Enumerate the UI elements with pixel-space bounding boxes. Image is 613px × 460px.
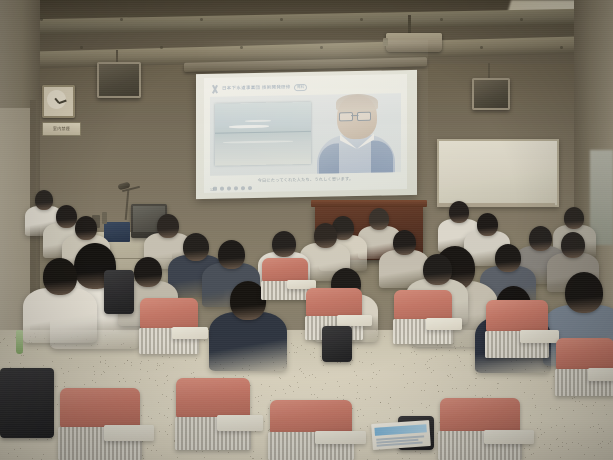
audience-person-head <box>561 232 585 258</box>
audience-person-head <box>449 201 469 223</box>
chair-backrest <box>140 298 198 329</box>
audience-person-head <box>393 230 416 255</box>
audience-person-head <box>218 240 245 269</box>
audience-person-head <box>564 207 584 229</box>
clock-face <box>47 90 66 109</box>
audience-chair <box>60 388 140 460</box>
audience-person-head <box>75 216 97 240</box>
lectern-top <box>311 200 427 207</box>
projector-mount-arm <box>408 15 411 35</box>
chair-writing-tablet <box>588 368 613 381</box>
audience-person-head <box>157 214 179 238</box>
audience-person-head <box>423 254 452 285</box>
audience-chair <box>556 338 613 396</box>
chair-writing-tablet <box>484 430 534 444</box>
play-icon <box>220 186 224 190</box>
speaker-mount-right <box>488 63 490 79</box>
audience-chair <box>394 290 452 344</box>
slide-header-tag: 資料 <box>294 83 308 90</box>
wall-speaker-left <box>97 62 141 98</box>
ceiling-projector <box>386 33 442 52</box>
wall-sign-label: 室内禁煙 <box>53 126 70 132</box>
chair-writing-tablet <box>426 318 462 330</box>
chair-writing-tablet <box>315 431 366 444</box>
whiteboard <box>437 139 559 207</box>
chair-writing-tablet <box>172 327 208 339</box>
wall-clock <box>42 85 75 118</box>
chair-writing-tablet <box>337 315 372 326</box>
chair-backrest <box>394 290 452 320</box>
av-device <box>102 212 107 224</box>
audience-chair <box>140 298 198 354</box>
audience-person-head <box>43 258 77 295</box>
audience-person-head <box>495 244 521 272</box>
slide-inset-photo <box>215 102 311 166</box>
audience-person-head <box>35 190 53 210</box>
subject-hair <box>336 94 378 112</box>
chair-writing-tablet <box>104 425 154 441</box>
personal-bag <box>104 270 134 314</box>
chair-backrest <box>262 258 308 282</box>
audience-person-head <box>272 231 296 257</box>
chair-writing-tablet <box>520 330 558 343</box>
audience-person-head <box>56 205 77 228</box>
forward-icon <box>241 186 245 190</box>
chair-backrest <box>176 378 250 418</box>
slide-header: 日本下水道事業団 技術開発研修 資料 <box>210 79 401 95</box>
company-logo-icon <box>210 84 219 93</box>
chair-backrest <box>486 300 548 332</box>
av-control-box <box>104 222 130 242</box>
audience-person-head <box>565 272 603 313</box>
rewind-icon <box>234 186 238 190</box>
chair-backrest <box>306 288 362 317</box>
personal-bag <box>0 368 54 438</box>
eyeglasses-icon <box>339 112 371 120</box>
audience-chair <box>486 300 548 358</box>
lecture-room-photo: 室内禁煙 日本下水道事業団 技術開発研修 資料 <box>0 0 613 460</box>
audience-chair <box>270 400 352 460</box>
photo-highlight <box>245 120 271 122</box>
photo-horizon-line <box>215 130 311 133</box>
no-smoking-sign: 室内禁煙 <box>42 122 81 136</box>
personal-bag <box>322 326 352 362</box>
projected-slide: 日本下水道事業団 技術開発研修 資料 今日にたってくれた人たち、うれしく思い <box>204 74 407 193</box>
chair-backrest <box>270 400 352 434</box>
slide-header-title: 日本下水道事業団 技術開発研修 <box>222 84 291 91</box>
audience-person-torso <box>23 288 96 344</box>
clock-minute-hand <box>58 100 66 104</box>
ceiling-beam <box>0 8 613 35</box>
audience-person-head <box>529 226 552 251</box>
chair-backrest <box>556 338 613 370</box>
audience-person-head <box>477 213 498 236</box>
audience-person-head <box>314 223 337 248</box>
audience-person-torso <box>209 312 286 371</box>
volume-icon <box>248 186 252 190</box>
slide-video-frame <box>210 93 401 176</box>
chair-backrest <box>60 388 140 428</box>
handout-header-band <box>374 424 426 436</box>
slide-page-number: 12 <box>210 188 214 192</box>
audience-chair <box>176 378 250 450</box>
audience-chair <box>440 398 520 460</box>
audience-person-head <box>369 208 389 230</box>
chair-backrest <box>440 398 520 433</box>
pause-icon <box>227 186 231 190</box>
chair-writing-tablet <box>217 415 263 431</box>
water-bottle <box>16 330 23 354</box>
photo-highlight <box>223 140 293 143</box>
wall-speaker-right <box>472 78 510 110</box>
audience-person-head <box>183 233 209 261</box>
slide-interview-subject <box>317 94 395 173</box>
photo-highlight <box>229 125 269 129</box>
ceiling <box>0 0 613 64</box>
audience-person-head <box>134 257 162 287</box>
printed-handout <box>371 420 431 450</box>
